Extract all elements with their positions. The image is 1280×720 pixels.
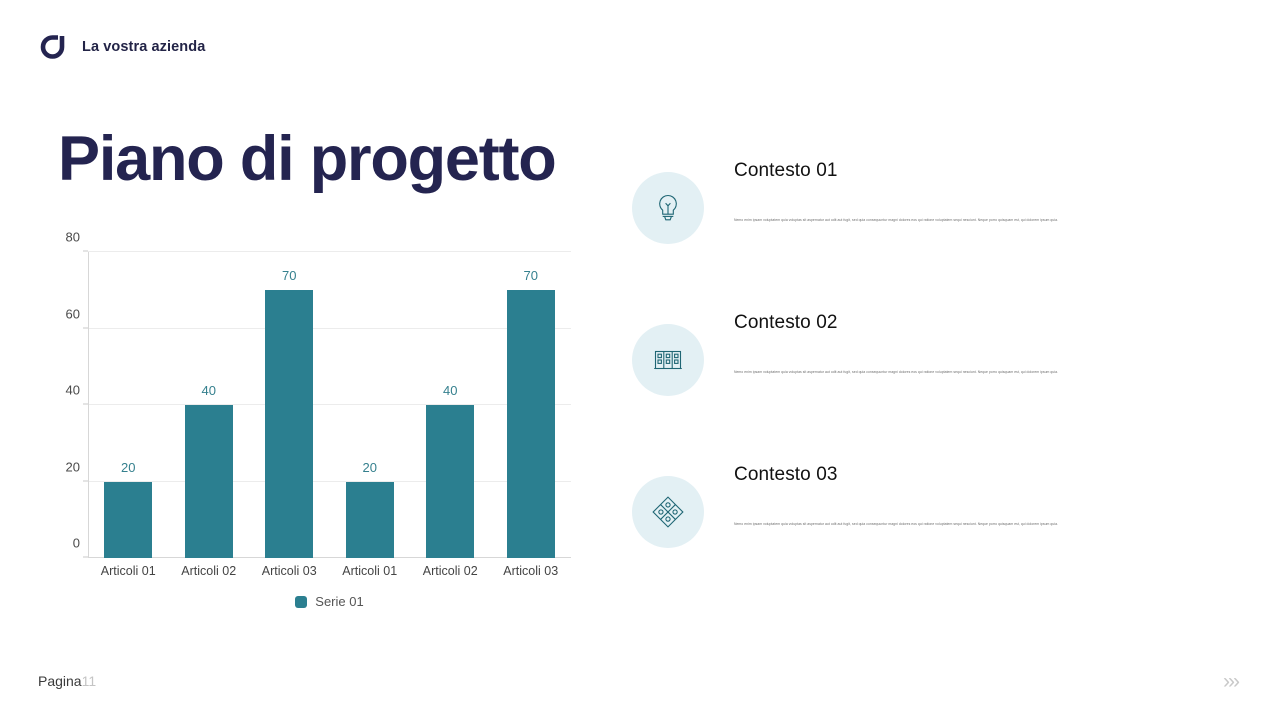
triple-chevron-right-icon[interactable]: ››› (1223, 670, 1238, 694)
x-axis-tick-label: Articoli 03 (491, 564, 572, 578)
context-text-01: Contesto 01 Nemo enim ipsam voluptatem q… (734, 152, 1232, 223)
y-axis-tick-label: 80 (66, 230, 80, 245)
chart-bar[interactable]: 40 (185, 405, 233, 558)
lightbulb-icon (632, 172, 704, 244)
x-axis-tick-label: Articoli 01 (330, 564, 411, 578)
context-item-01: Contesto 01 Nemo enim ipsam voluptatem q… (632, 152, 1232, 304)
legend-label-serie-01: Serie 01 (315, 594, 363, 609)
bar-value-label: 20 (121, 460, 135, 475)
chart-bar[interactable]: 40 (426, 405, 474, 558)
context-heading-03: Contesto 03 (734, 464, 1232, 486)
bar-value-label: 70 (524, 268, 538, 283)
bar-slot: 20 (88, 252, 169, 558)
context-text-02: Contesto 02 Nemo enim ipsam voluptatem q… (734, 304, 1232, 375)
bar-chart: 020406080 204070204070 Articoli 01Artico… (56, 244, 576, 614)
y-axis-tick-label: 20 (66, 459, 80, 474)
context-text-03: Contesto 03 Nemo enim ipsam voluptatem q… (734, 456, 1232, 527)
puzzle-diamond-icon (632, 476, 704, 548)
context-item-02: Contesto 02 Nemo enim ipsam voluptatem q… (632, 304, 1232, 456)
chart-legend: Serie 01 (88, 594, 571, 609)
x-axis-tick-label: Articoli 02 (410, 564, 491, 578)
chart-bar[interactable]: 70 (507, 290, 555, 558)
bar-value-label: 70 (282, 268, 296, 283)
context-list: Contesto 01 Nemo enim ipsam voluptatem q… (632, 152, 1232, 608)
footer-page-label: Pagina (38, 673, 82, 689)
footer-page-number: 11 (82, 673, 97, 689)
footer-page-indicator: Pagina11 (38, 673, 96, 689)
x-axis-tick-label: Articoli 01 (88, 564, 169, 578)
x-axis-tick-label: Articoli 03 (249, 564, 330, 578)
context-item-03: Contesto 03 Nemo enim ipsam voluptatem q… (632, 456, 1232, 608)
chart-bar[interactable]: 20 (346, 482, 394, 559)
chart-bar[interactable]: 20 (104, 482, 152, 559)
context-heading-02: Contesto 02 (734, 312, 1232, 334)
context-heading-01: Contesto 01 (734, 160, 1232, 182)
bar-slot: 40 (410, 252, 491, 558)
company-logo-g-mark-icon (40, 34, 66, 60)
chart-plot-area: 020406080 204070204070 (88, 252, 571, 558)
x-axis-tick-label: Articoli 02 (169, 564, 250, 578)
y-axis-tick-label: 0 (73, 536, 80, 551)
header: La vostra azienda (40, 34, 205, 60)
bar-value-label: 20 (363, 460, 377, 475)
chart-bar[interactable]: 70 (265, 290, 313, 558)
legend-swatch-serie-01 (295, 596, 307, 608)
context-body-01: Nemo enim ipsam voluptatem quia voluptas… (734, 218, 1170, 223)
y-axis-tick-label: 40 (66, 383, 80, 398)
bar-slot: 70 (249, 252, 330, 558)
x-axis-labels: Articoli 01Articoli 02Articoli 03Articol… (88, 564, 571, 578)
brand-name: La vostra azienda (82, 39, 205, 55)
bar-value-label: 40 (443, 383, 457, 398)
chart-bars: 204070204070 (88, 252, 571, 558)
bar-value-label: 40 (202, 383, 216, 398)
context-body-02: Nemo enim ipsam voluptatem quia voluptas… (734, 370, 1170, 375)
lockers-icon (632, 324, 704, 396)
bar-slot: 40 (169, 252, 250, 558)
bar-slot: 20 (330, 252, 411, 558)
bar-slot: 70 (491, 252, 572, 558)
y-axis-tick-label: 60 (66, 306, 80, 321)
page-title: Piano di progetto (58, 128, 556, 191)
context-body-03: Nemo enim ipsam voluptatem quia voluptas… (734, 522, 1170, 527)
